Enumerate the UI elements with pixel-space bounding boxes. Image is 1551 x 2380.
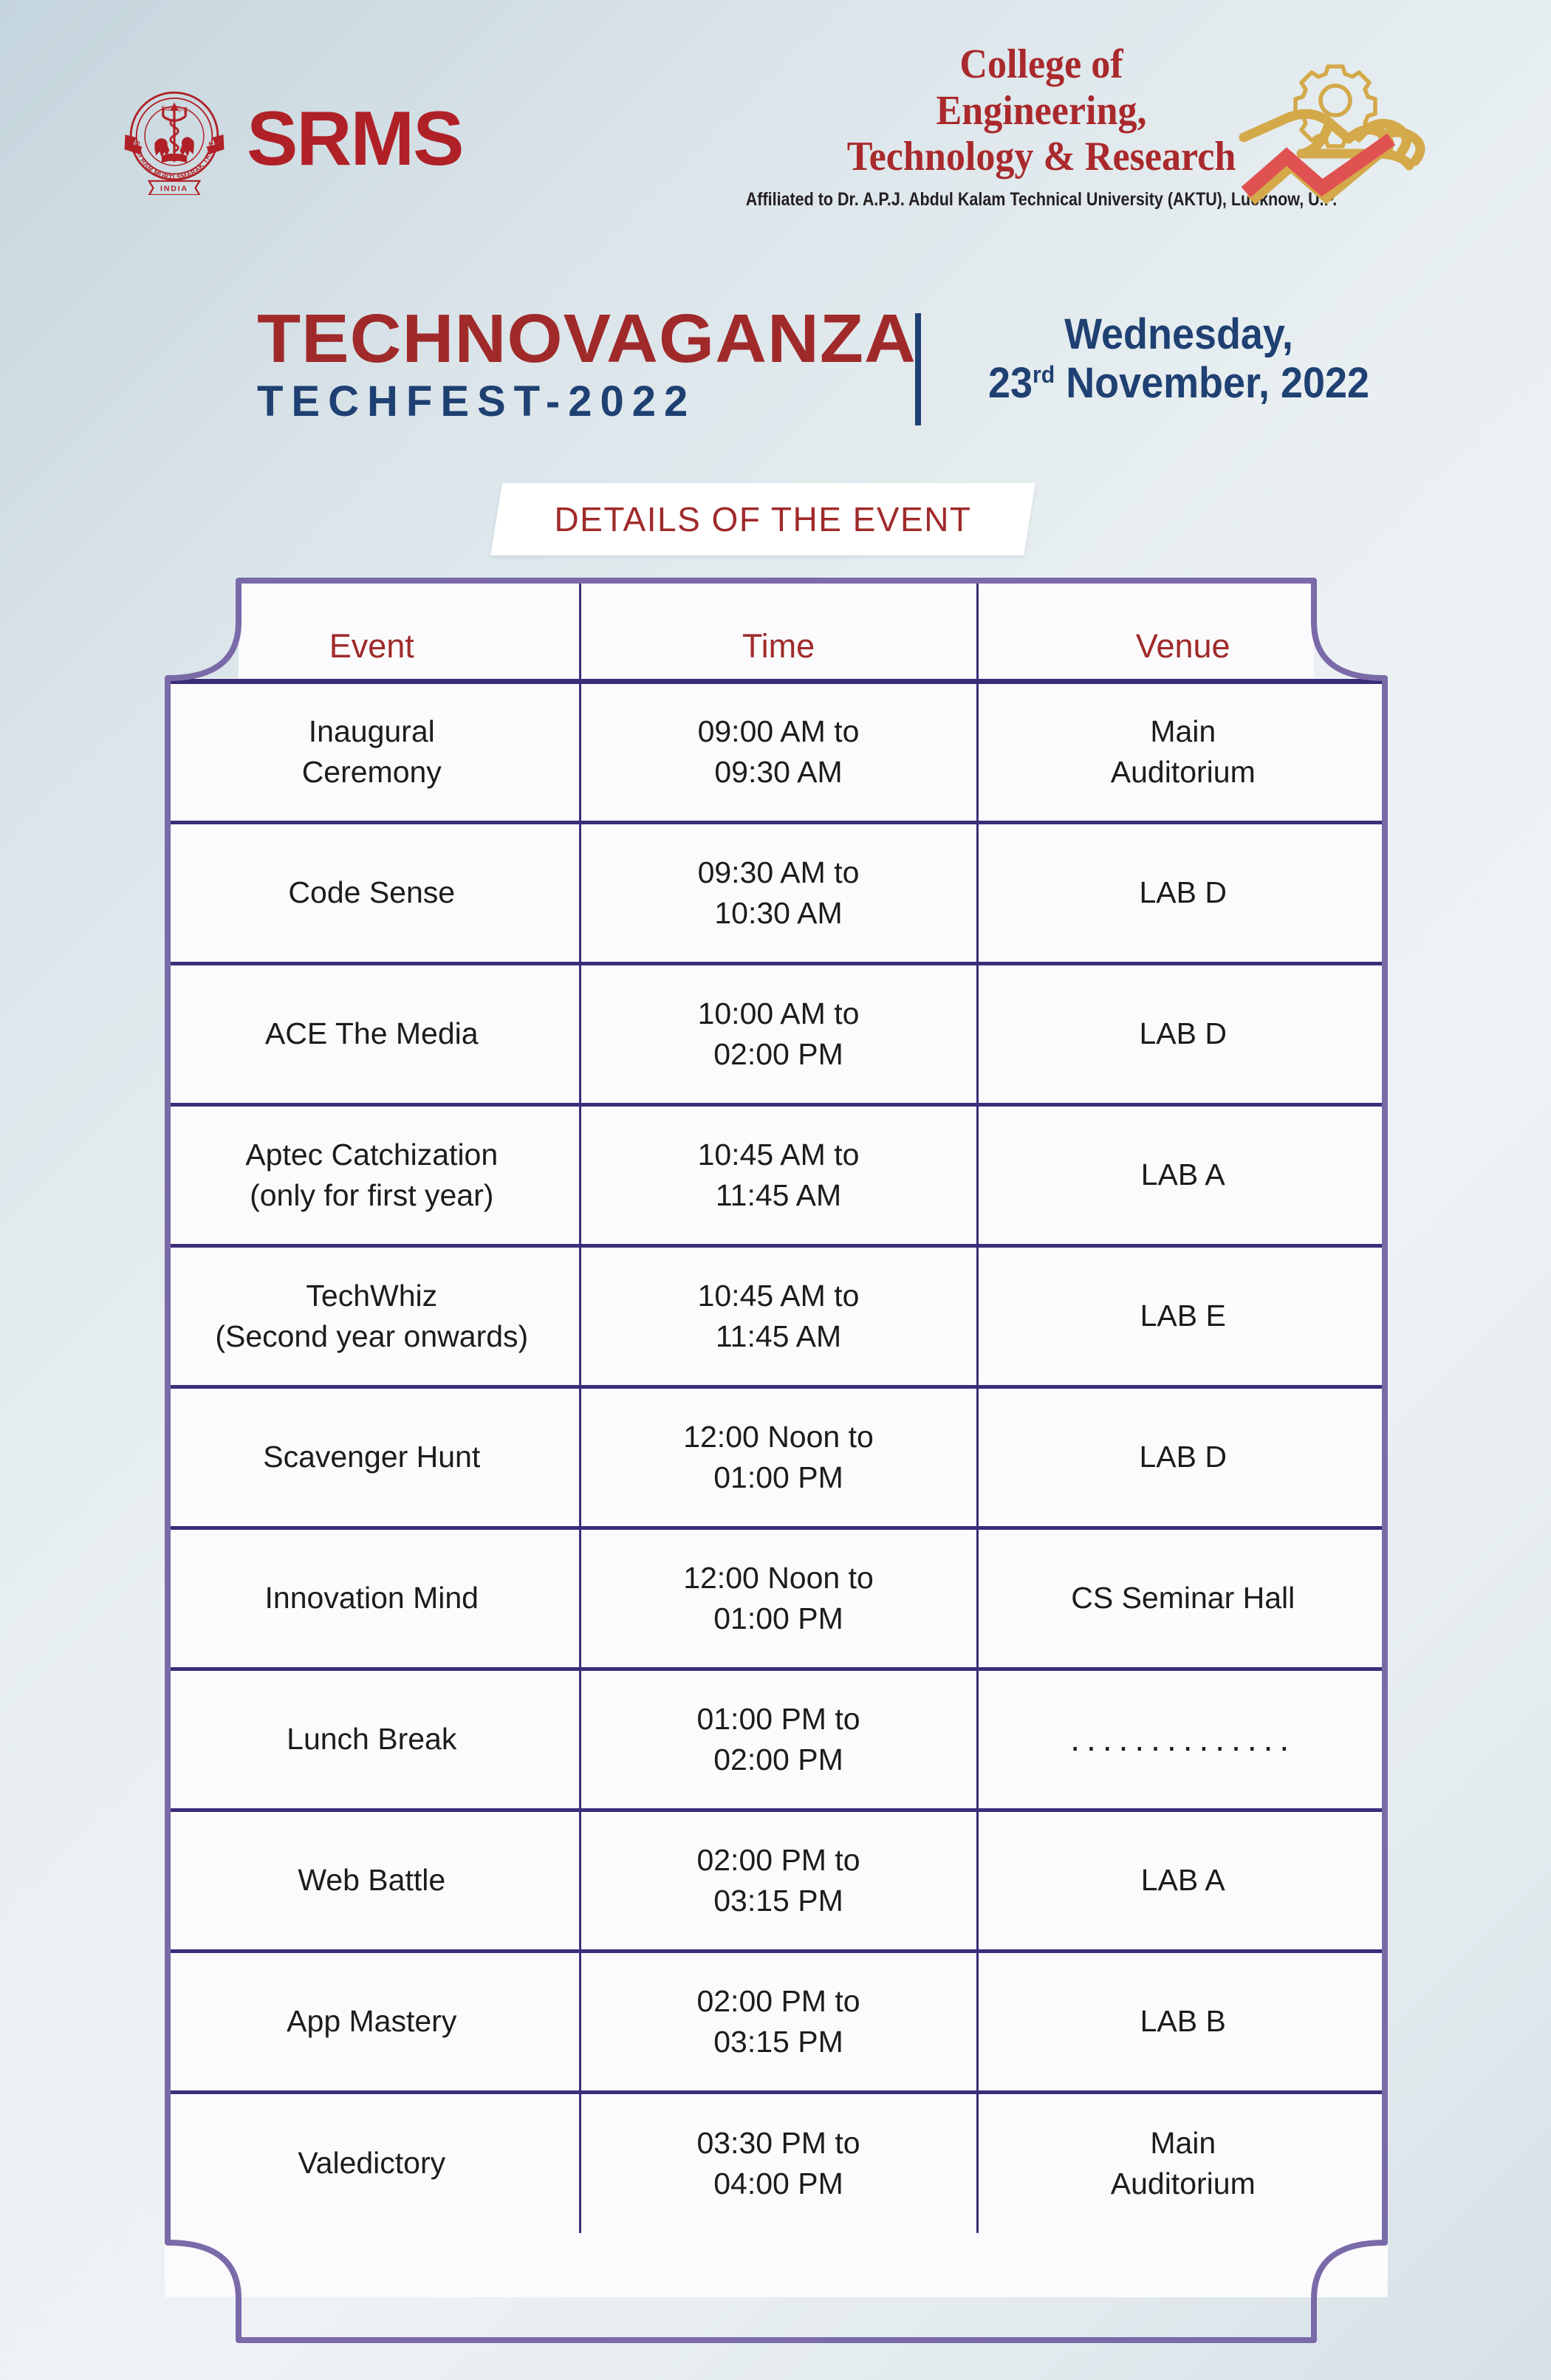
event-cell: TechWhiz(Second year onwards) xyxy=(165,1245,580,1386)
svg-text:विद्या अमृतम्: विद्या अमृतम् xyxy=(162,106,188,113)
event-cell-line-2: (only for first year) xyxy=(169,1175,575,1216)
time-cell-line-1: 10:45 AM to xyxy=(586,1135,972,1175)
time-cell-line-2: 01:00 PM xyxy=(586,1457,972,1498)
event-cell: Aptec Catchization(only for first year) xyxy=(165,1104,580,1245)
venue-cell: MainAuditorium xyxy=(977,2092,1388,2233)
time-cell-line-2: 01:00 PM xyxy=(586,1598,972,1639)
venue-cell: LAB B xyxy=(977,1951,1388,2092)
time-cell-line-2: 02:00 PM xyxy=(586,1034,972,1075)
time-cell-line-1: 12:00 Noon to xyxy=(586,1558,972,1598)
venue-cell-line-1: LAB E xyxy=(983,1296,1384,1336)
event-cell-line-1: TechWhiz xyxy=(169,1276,575,1316)
festival-title-block: TECHNOVAGANZA TECHFEST-2022 xyxy=(257,304,891,423)
event-weekday: Wednesday, xyxy=(959,310,1398,359)
time-cell: 10:00 AM to02:00 PM xyxy=(580,963,977,1104)
time-cell-line-1: 10:00 AM to xyxy=(586,994,972,1034)
event-cell: InauguralCeremony xyxy=(165,681,580,822)
column-header-time: Time xyxy=(580,578,977,681)
time-cell: 02:00 PM to03:15 PM xyxy=(580,1810,977,1951)
venue-cell-line-1: .............. xyxy=(1070,1717,1295,1762)
event-cell-line-1: Aptec Catchization xyxy=(169,1135,575,1175)
event-date-day: 23 xyxy=(988,359,1033,407)
time-cell: 09:30 AM to10:30 AM xyxy=(580,822,977,963)
table-row: Valedictory03:30 PM to04:00 PMMainAudito… xyxy=(165,2092,1388,2233)
time-cell-line-1: 02:00 PM to xyxy=(586,1840,972,1881)
venue-cell-line-1: CS Seminar Hall xyxy=(983,1578,1384,1618)
event-cell-line-1: Code Sense xyxy=(169,872,575,913)
table-row: Code Sense09:30 AM to10:30 AMLAB D xyxy=(165,822,1388,963)
time-cell: 12:00 Noon to01:00 PM xyxy=(580,1386,977,1528)
event-cell-line-1: Inaugural xyxy=(169,711,575,752)
event-cell-line-2: Ceremony xyxy=(169,752,575,793)
time-cell-line-2: 10:30 AM xyxy=(586,893,972,934)
event-cell-line-1: App Mastery xyxy=(169,2001,575,2042)
venue-cell: LAB E xyxy=(977,1245,1388,1386)
srms-wordmark: SRMS xyxy=(247,100,462,177)
venue-cell: MainAuditorium xyxy=(977,681,1388,822)
column-header-event: Event xyxy=(165,578,580,681)
srms-logo-group: विद्या अमृतम् SHRI RAM MURTI SMARAK TRUS… xyxy=(118,83,462,195)
table-row: Scavenger Hunt12:00 Noon to01:00 PMLAB D xyxy=(165,1386,1388,1528)
details-of-event-banner: DETAILS OF THE EVENT xyxy=(490,483,1035,555)
time-cell-line-2: 11:45 AM xyxy=(586,1316,972,1357)
event-cell: Valedictory xyxy=(165,2092,580,2233)
time-cell-line-2: 11:45 AM xyxy=(586,1175,972,1216)
venue-cell-line-1: LAB B xyxy=(983,2001,1384,2042)
time-cell-line-2: 02:00 PM xyxy=(586,1740,972,1780)
event-cell-line-1: Web Battle xyxy=(169,1860,575,1901)
venue-cell-line-2: Auditorium xyxy=(983,2164,1384,2204)
column-header-venue: Venue xyxy=(977,578,1388,681)
event-cell-line-1: Valedictory xyxy=(169,2143,575,2184)
event-cell-line-1: Lunch Break xyxy=(169,1719,575,1760)
venue-cell-line-1: LAB D xyxy=(983,1437,1384,1477)
table-row: App Mastery02:00 PM to03:15 PMLAB B xyxy=(165,1951,1388,2092)
table-row: Innovation Mind12:00 Noon to01:00 PMCS S… xyxy=(165,1528,1388,1669)
venue-cell-line-1: LAB A xyxy=(983,1860,1384,1901)
time-cell-line-1: 02:00 PM to xyxy=(586,1981,972,2022)
srms-crest-icon: विद्या अमृतम् SHRI RAM MURTI SMARAK TRUS… xyxy=(118,83,230,195)
time-cell-line-2: 09:30 AM xyxy=(586,752,972,793)
event-cell-line-2: (Second year onwards) xyxy=(169,1316,575,1357)
event-cell: Lunch Break xyxy=(165,1669,580,1810)
venue-cell: LAB D xyxy=(977,822,1388,963)
table-row: ACE The Media10:00 AM to02:00 PMLAB D xyxy=(165,963,1388,1104)
title-divider xyxy=(915,313,921,425)
time-cell-line-1: 12:00 Noon to xyxy=(586,1417,972,1457)
event-cell-line-1: Scavenger Hunt xyxy=(169,1437,575,1477)
time-cell-line-1: 03:30 PM to xyxy=(586,2123,972,2164)
event-date-block: Wednesday, 23rd November, 2022 xyxy=(942,310,1415,408)
time-cell-line-2: 03:15 PM xyxy=(586,1881,972,1921)
time-cell: 10:45 AM to11:45 AM xyxy=(580,1245,977,1386)
poster-header: विद्या अमृतम् SHRI RAM MURTI SMARAK TRUS… xyxy=(0,0,1551,273)
time-cell-line-1: 09:30 AM to xyxy=(586,852,972,893)
event-cell-line-1: ACE The Media xyxy=(169,1013,575,1054)
time-cell: 12:00 Noon to01:00 PM xyxy=(580,1528,977,1669)
time-cell-line-2: 04:00 PM xyxy=(586,2164,972,2204)
event-date-ordinal: rd xyxy=(1033,361,1055,388)
festival-name: TECHNOVAGANZA xyxy=(257,304,917,373)
time-cell: 10:45 AM to11:45 AM xyxy=(580,1104,977,1245)
festival-subtitle: TECHFEST-2022 xyxy=(257,380,891,423)
time-cell-line-2: 03:15 PM xyxy=(586,2022,972,2062)
event-cell: Scavenger Hunt xyxy=(165,1386,580,1528)
event-date: 23rd November, 2022 xyxy=(959,359,1398,408)
hand-holding-gear-icon xyxy=(1235,35,1436,222)
time-cell-line-1: 10:45 AM to xyxy=(586,1276,972,1316)
table-row: InauguralCeremony09:00 AM to09:30 AMMain… xyxy=(165,681,1388,822)
table-row: Web Battle02:00 PM to03:15 PMLAB A xyxy=(165,1810,1388,1951)
table-row: Lunch Break01:00 PM to02:00 PM..........… xyxy=(165,1669,1388,1810)
event-cell: Innovation Mind xyxy=(165,1528,580,1669)
time-cell: 01:00 PM to02:00 PM xyxy=(580,1669,977,1810)
event-date-rest: November, 2022 xyxy=(1055,359,1369,407)
venue-cell-line-1: LAB A xyxy=(983,1155,1384,1195)
venue-cell-line-1: LAB D xyxy=(983,1013,1384,1054)
time-cell: 09:00 AM to09:30 AM xyxy=(580,681,977,822)
time-cell-line-1: 01:00 PM to xyxy=(586,1699,972,1740)
time-cell: 03:30 PM to04:00 PM xyxy=(580,2092,977,2233)
event-cell: App Mastery xyxy=(165,1951,580,2092)
venue-cell: LAB D xyxy=(977,1386,1388,1528)
venue-cell: LAB D xyxy=(977,963,1388,1104)
svg-text:INDIA: INDIA xyxy=(160,185,188,193)
table-header-row: Event Time Venue xyxy=(165,578,1388,681)
venue-cell-line-1: Main xyxy=(983,2123,1384,2164)
time-cell: 02:00 PM to03:15 PM xyxy=(580,1951,977,2092)
venue-cell: LAB A xyxy=(977,1104,1388,1245)
venue-cell-line-2: Auditorium xyxy=(983,752,1384,793)
event-cell-line-1: Innovation Mind xyxy=(169,1578,575,1618)
event-schedule-table: Event Time Venue InauguralCeremony09:00 … xyxy=(165,578,1388,2233)
event-cell: Web Battle xyxy=(165,1810,580,1951)
table-row: TechWhiz(Second year onwards)10:45 AM to… xyxy=(165,1245,1388,1386)
details-banner-label: DETAILS OF THE EVENT xyxy=(496,483,1030,555)
venue-cell-line-1: Main xyxy=(983,711,1384,752)
venue-cell: CS Seminar Hall xyxy=(977,1528,1388,1669)
event-cell: ACE The Media xyxy=(165,963,580,1104)
venue-cell-line-1: LAB D xyxy=(983,872,1384,913)
venue-cell: LAB A xyxy=(977,1810,1388,1951)
event-cell: Code Sense xyxy=(165,822,580,963)
schedule-table-wrapper: Event Time Venue InauguralCeremony09:00 … xyxy=(165,578,1388,2343)
time-cell-line-1: 09:00 AM to xyxy=(586,711,972,752)
title-area: TECHNOVAGANZA TECHFEST-2022 Wednesday, 2… xyxy=(0,304,1551,452)
venue-cell: .............. xyxy=(977,1669,1388,1810)
table-row: Aptec Catchization(only for first year)1… xyxy=(165,1104,1388,1245)
